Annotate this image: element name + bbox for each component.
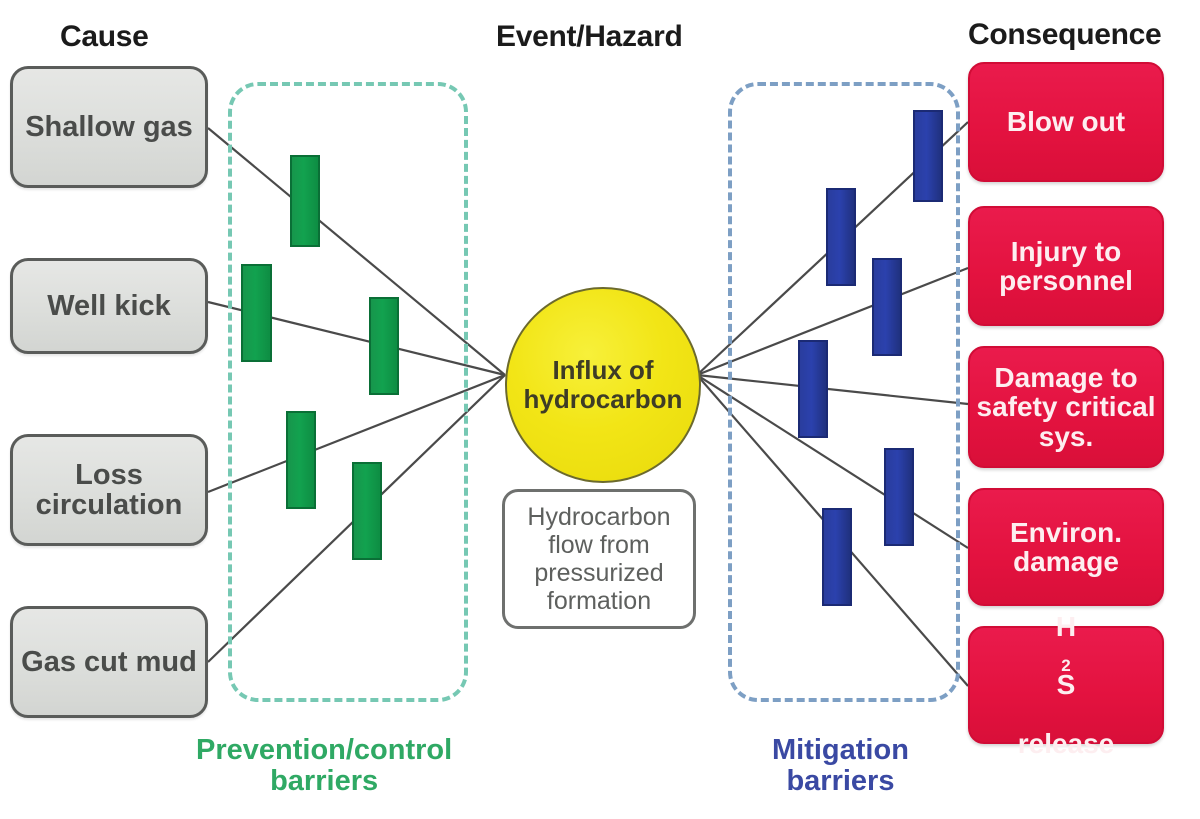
cause-box-loss-circulation[interactable]: Loss circulation [10,434,208,546]
consequence-box-injury-to-personnel[interactable]: Injury to personnel [968,206,1164,326]
consequence-label: Damage to safety critical sys. [970,363,1162,451]
mitigation-barrier-bar[interactable] [822,508,852,606]
cause-box-well-kick[interactable]: Well kick [10,258,208,354]
bowtie-diagram: Cause Event/Hazard Consequence Shallow g… [0,0,1200,819]
mitigation-zone-caption: Mitigation barriers [772,735,909,798]
prevention-barrier-zone [228,82,468,702]
consequence-label: Blow out [1003,107,1129,136]
consequence-box-blow-out[interactable]: Blow out [968,62,1164,182]
prevention-barrier-bar[interactable] [369,297,399,395]
hazard-label: Influx of hydrocarbon [507,356,699,413]
prevention-barrier-bar[interactable] [286,411,316,509]
prevention-caption-line1: Prevention/control [196,734,452,766]
column-header-consequence: Consequence [968,18,1161,52]
column-header-event-hazard: Event/Hazard [496,20,682,54]
prevention-zone-caption: Prevention/control barriers [196,735,452,798]
consequence-box-damage-to-safety-critical-systems[interactable]: Damage to safety critical sys. [968,346,1164,468]
mitigation-barrier-bar[interactable] [913,110,943,202]
h2s-subscript: 2 [1061,656,1070,675]
cause-label: Gas cut mud [15,647,203,677]
prevention-barrier-bar[interactable] [352,462,382,560]
consequence-label: Environ. damage [970,518,1162,577]
prevention-caption-line2: barriers [270,765,378,797]
prevention-barrier-bar[interactable] [241,264,272,362]
h2s-line2: release [1014,729,1119,758]
consequence-box-environmental-damage[interactable]: Environ. damage [968,488,1164,606]
h2s-prefix: H [1014,612,1119,641]
consequence-box-h2s-release[interactable]: H2S release [968,626,1164,744]
mitigation-barrier-bar[interactable] [826,188,856,286]
mitigation-barrier-bar[interactable] [798,340,828,438]
mitigation-caption-line1: Mitigation [772,734,909,766]
mitigation-barrier-bar[interactable] [884,448,914,546]
column-header-cause: Cause [60,20,149,54]
hazard-event-circle[interactable]: Influx of hydrocarbon [505,287,701,483]
mitigation-caption-line2: barriers [786,765,894,797]
consequence-label: Injury to personnel [970,237,1162,296]
cause-label: Well kick [41,291,177,321]
mitigation-barrier-bar[interactable] [872,258,902,356]
hazard-description-box: Hydrocarbon flow from pressurized format… [502,489,696,629]
hazard-description-label: Hydrocarbon flow from pressurized format… [505,503,693,615]
consequence-label: H2S release [1010,612,1123,759]
cause-label: Shallow gas [19,112,199,142]
cause-box-gas-cut-mud[interactable]: Gas cut mud [10,606,208,718]
prevention-barrier-bar[interactable] [290,155,320,247]
cause-box-shallow-gas[interactable]: Shallow gas [10,66,208,188]
cause-label: Loss circulation [13,460,205,521]
